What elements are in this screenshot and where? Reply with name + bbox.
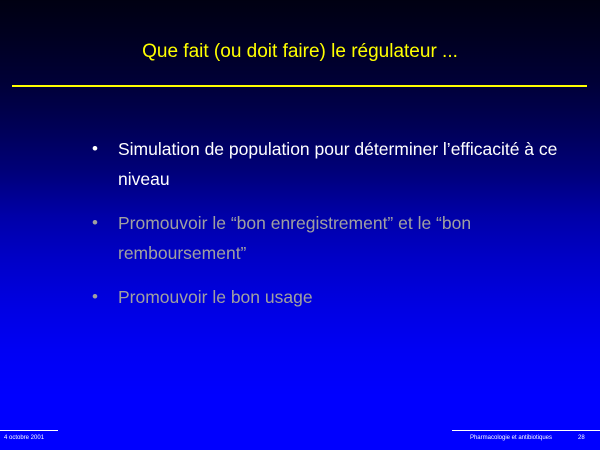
bullet-marker-icon: • <box>92 282 98 312</box>
bullet-text-2: Promouvoir le “bon enregistrement” et le… <box>118 208 568 268</box>
presentation-slide: Que fait (ou doit faire) le régulateur .… <box>0 0 600 450</box>
footer-divider-right <box>452 430 600 431</box>
title-divider <box>12 85 587 87</box>
page-title: Que fait (ou doit faire) le régulateur .… <box>0 40 600 64</box>
slide-title-block: Que fait (ou doit faire) le régulateur .… <box>0 40 600 64</box>
bullet-marker-icon: • <box>92 208 98 238</box>
bullet-item-1: • Simulation de population pour détermin… <box>88 134 568 194</box>
footer-subject: Pharmacologie et antibiotiques <box>455 434 567 443</box>
bullet-text-3: Promouvoir le bon usage <box>118 282 568 312</box>
footer-divider-left <box>0 430 58 431</box>
bullet-marker-icon: • <box>92 134 98 164</box>
bullet-text-1: Simulation de population pour déterminer… <box>118 134 568 194</box>
bullet-item-3: • Promouvoir le bon usage <box>88 282 568 312</box>
bullet-item-2: • Promouvoir le “bon enregistrement” et … <box>88 208 568 268</box>
footer-date: 4 octobre 2001 <box>4 434 44 443</box>
slide-body: • Simulation de population pour détermin… <box>88 134 568 326</box>
footer-page-number: 28 <box>578 434 585 443</box>
